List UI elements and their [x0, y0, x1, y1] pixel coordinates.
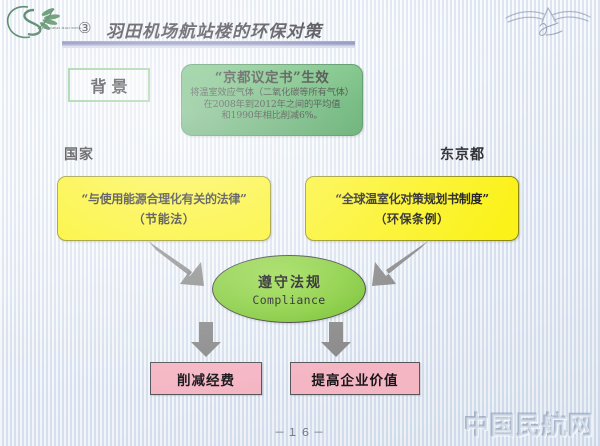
- law-title-tokyo: “全球温室化对策规划书制度”: [335, 190, 489, 207]
- kyoto-protocol-box: “京都议定书”生效 将温室效应气体（二氧化碳等所有气体） 在2008年到2012…: [181, 64, 363, 136]
- compliance-title: 遵守法规: [256, 272, 322, 292]
- law-subtitle-tokyo: （环保条例）: [374, 210, 449, 227]
- law-subtitle-national: （节能法）: [133, 210, 196, 227]
- result-box-cost-reduction: 削减经费: [150, 362, 262, 395]
- compliance-subtitle: Compliance: [252, 293, 325, 307]
- law-title-national: “与使用能源合理化有关的法律”: [81, 190, 246, 207]
- organization-logo: [4, 2, 88, 44]
- arrow-compliance-to-value: [321, 322, 351, 357]
- actor-label-tokyo: 东京都: [440, 144, 485, 164]
- slide-canvas: SHANGHAI JIAO TONG ③ 羽田机场航站楼的环保对策 背景 “京都…: [0, 0, 600, 446]
- law-box-tokyo: “全球温室化对策规划书制度” （环保条例）: [305, 176, 519, 241]
- site-watermark: 中国民航网: [464, 406, 594, 442]
- kyoto-heading: “京都议定书”生效: [182, 70, 362, 87]
- section-number: ③: [78, 19, 91, 38]
- page-title: 羽田机场航站楼的环保对策: [106, 17, 322, 42]
- kyoto-line-1: 将温室效应气体（二氧化碳等所有气体）: [182, 87, 362, 99]
- law-box-national: “与使用能源合理化有关的法律” （节能法）: [57, 176, 271, 241]
- logo-caption: SHANGHAI JIAO TONG: [40, 26, 82, 30]
- result-box-enterprise-value: 提高企业价值: [290, 362, 420, 395]
- arrow-left-to-compliance: [148, 241, 204, 286]
- compliance-ellipse: 遵守法规 Compliance: [212, 255, 366, 323]
- signature-flourish-icon: [502, 2, 594, 42]
- title-underline-bar-light: [62, 46, 355, 48]
- arrow-compliance-to-cost: [191, 322, 221, 357]
- actor-label-country: 国家: [64, 144, 94, 164]
- background-label: 背景: [68, 68, 150, 102]
- kyoto-line-3: 和1990年相比削减6%。: [182, 110, 362, 122]
- kyoto-line-2: 在2008年到2012年之间的平均值: [182, 99, 362, 111]
- arrow-right-to-compliance: [372, 241, 428, 286]
